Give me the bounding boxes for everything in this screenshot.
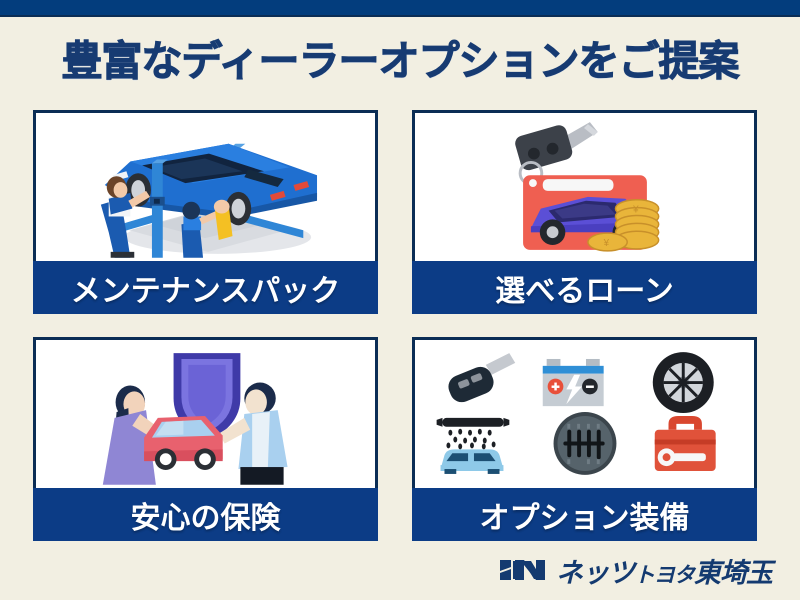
logo-text-mid: トヨタ: [634, 564, 694, 587]
logo-text-lead: ネッツ: [556, 558, 634, 588]
toolbox-icon: [655, 416, 716, 471]
svg-text:¥: ¥: [632, 205, 639, 216]
battery-icon: [543, 359, 604, 406]
option-card-reliable-insurance[interactable]: 安心の保険: [33, 337, 378, 541]
tire-icon: [653, 352, 714, 413]
illustration-car-on-lift: [33, 110, 378, 261]
top-bar-underline: [0, 15, 800, 17]
illustration-key-card-coins: ¥ ¥: [412, 110, 757, 261]
dealer-logo-text: ネッツトヨタ東埼玉: [556, 551, 772, 590]
option-card-maintenance-pack[interactable]: メンテナンスパック: [33, 110, 378, 314]
illustration-option-icon-grid: [412, 337, 757, 488]
option-card-label: メンテナンスパック: [33, 261, 378, 314]
option-card-optional-equipment[interactable]: オプション装備: [412, 337, 757, 541]
options-card-grid: メンテナンスパック: [33, 110, 757, 541]
svg-text:¥: ¥: [603, 238, 610, 249]
gear-shift-icon: [554, 412, 617, 475]
illustration-shield-people-car: [33, 337, 378, 488]
option-card-selectable-loan[interactable]: ¥ ¥ 選べるローン: [412, 110, 757, 314]
car-key-icon: [445, 353, 515, 406]
top-navy-bar: [0, 0, 800, 15]
dealer-logo[interactable]: ネッツトヨタ東埼玉: [500, 551, 772, 590]
logo-text-tail: 東埼玉: [694, 558, 772, 588]
option-card-label: 選べるローン: [412, 261, 757, 314]
page-title: 豊富なディーラーオプションをご提案: [0, 26, 800, 88]
netz-n-mark-icon: [500, 557, 546, 583]
option-card-label: 安心の保険: [33, 488, 378, 541]
car-wash-icon: [437, 418, 510, 474]
footer: ネッツトヨタ東埼玉: [0, 548, 800, 592]
option-card-label: オプション装備: [412, 488, 757, 541]
